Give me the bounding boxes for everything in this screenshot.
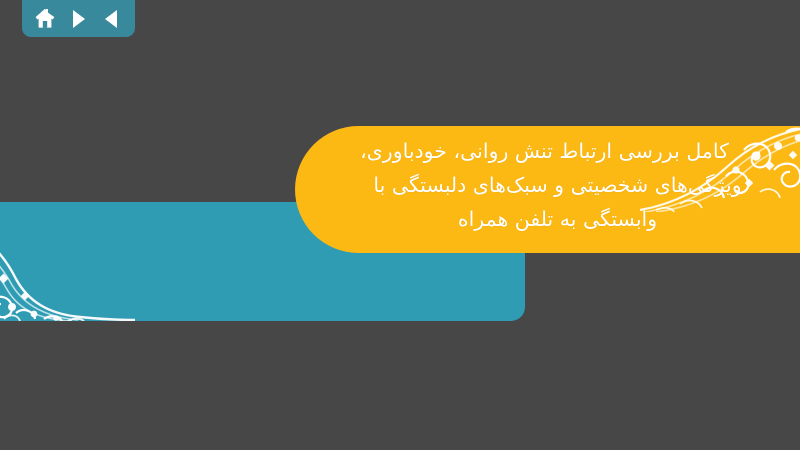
slide-title-line-1: کامل بررسی ارتباط تنش روانی، خودباوری،: [295, 134, 800, 168]
home-icon: [34, 8, 56, 29]
triangle-left-icon: [103, 9, 121, 29]
home-slide-button[interactable]: [32, 6, 58, 32]
previous-slide-button[interactable]: [99, 6, 125, 32]
next-slide-button[interactable]: [66, 6, 92, 32]
slide-navigation-bar: [22, 0, 135, 37]
title-banner: کامل بررسی ارتباط تنش روانی، خودباوری، و…: [295, 126, 800, 253]
slide-title-line-2: ویژگی‌های شخصیتی و سبک‌های دلبستگی با: [295, 168, 800, 202]
triangle-right-icon: [71, 9, 87, 29]
slide-title-line-3: وابستگی به تلفن همراه: [295, 202, 800, 236]
teal-corner-ornament-icon: [0, 201, 135, 321]
slide-title: کامل بررسی ارتباط تنش روانی، خودباوری، و…: [295, 134, 800, 236]
presentation-slide: کامل بررسی ارتباط تنش روانی، خودباوری، و…: [0, 0, 800, 450]
